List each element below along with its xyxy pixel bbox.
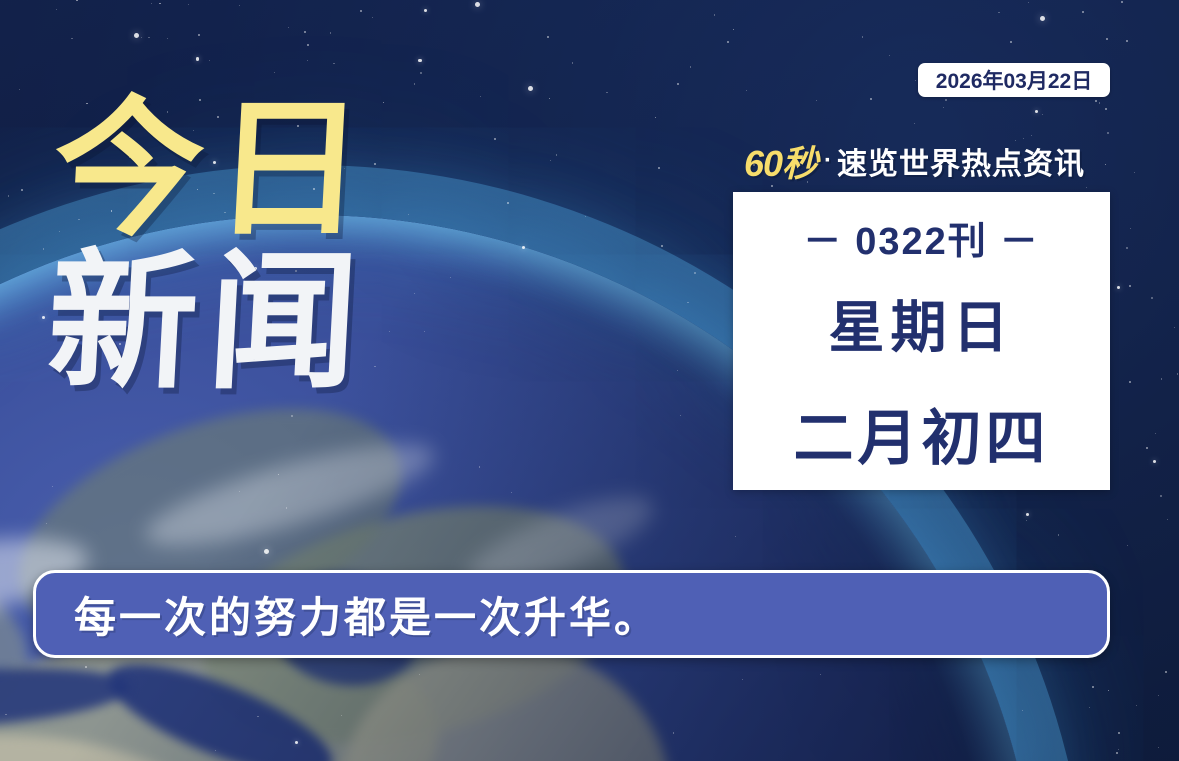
brand-title: 今日 新闻: [48, 96, 468, 396]
issue-number: 0322刊: [855, 221, 988, 263]
date-badge: 2026年03月22日: [918, 63, 1110, 97]
issue-line: －0322刊－: [791, 210, 1052, 265]
quote-bar: 每一次的努力都是一次升华。: [33, 570, 1110, 658]
weekday-label: 星期日: [829, 283, 1015, 364]
news-poster: 今日 新闻 2026年03月22日 60秒 · 速览世界热点资讯 －0322刊－…: [0, 0, 1179, 761]
tagline-highlight: 60秒: [744, 135, 817, 187]
tagline-text: 速览世界热点资讯: [837, 139, 1085, 183]
issue-dash-right: －: [1000, 221, 1040, 263]
lunar-date-label: 二月初四: [794, 390, 1050, 477]
brand-title-line-top: 今日: [44, 96, 472, 243]
tagline: 60秒 · 速览世界热点资讯: [744, 140, 1110, 182]
tagline-separator-dot: ·: [824, 147, 832, 175]
quote-text: 每一次的努力都是一次升华。: [74, 584, 659, 645]
issue-dash-left: －: [803, 221, 843, 263]
brand-title-line-bottom: 新闻: [44, 249, 472, 396]
info-card: －0322刊－ 星期日 二月初四: [733, 192, 1110, 490]
